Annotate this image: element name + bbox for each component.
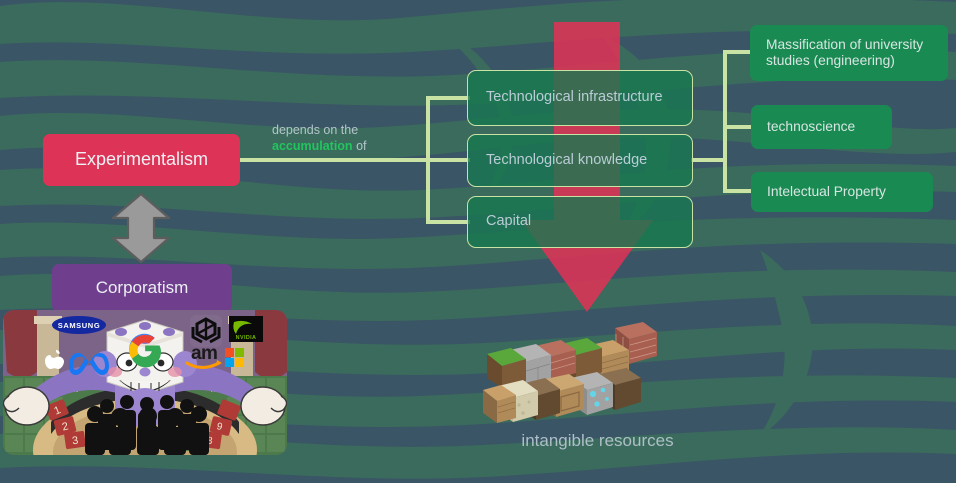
nvidia-logo-icon: NVIDIA: [229, 316, 263, 342]
node-experimentalism[interactable]: Experimentalism: [43, 134, 240, 186]
minecraft-blocks-illustration: [483, 322, 659, 426]
node-label: Capital: [486, 213, 531, 230]
connector-right-bracket-bottom: [723, 189, 753, 193]
node-massification-university-studies[interactable]: Massification of university studies (eng…: [750, 25, 948, 81]
label-intangible-resources: intangible resources: [455, 431, 740, 451]
node-label: Massification of university studies (eng…: [766, 37, 948, 70]
samsung-logo-icon: SAMSUNG: [52, 316, 106, 334]
node-label: Corporatism: [96, 278, 189, 298]
caption-depends-on-accumulation: depends on the accumulation of: [272, 123, 432, 154]
connector-knowledge-to-right-bracket: [691, 158, 727, 162]
connector-left-bracket-mid: [426, 158, 470, 162]
node-corporatism[interactable]: Corporatism: [52, 264, 232, 312]
svg-text:SAMSUNG: SAMSUNG: [58, 321, 101, 330]
bidirectional-arrow-icon: [110, 192, 172, 264]
node-label: Technological infrastructure: [486, 89, 663, 106]
node-technoscience[interactable]: technoscience: [751, 105, 892, 149]
node-label: Intelectual Property: [767, 184, 886, 200]
connector-right-bracket-top: [723, 50, 753, 54]
svg-text:m: m: [201, 343, 218, 364]
connector-right-bracket-mid: [723, 125, 753, 129]
node-technological-knowledge[interactable]: Technological knowledge: [467, 134, 693, 187]
connector-right-bracket-vertical: [723, 50, 727, 192]
node-capital[interactable]: Capital: [467, 196, 693, 248]
diagram-canvas: Technological infrastructure Technologic…: [0, 0, 956, 483]
connector-exp-to-bracket: [240, 158, 430, 162]
caption-highlight-accumulation: accumulation: [272, 139, 353, 153]
svg-text:NVIDIA: NVIDIA: [236, 335, 257, 341]
node-label: technoscience: [767, 119, 855, 135]
king-dice-tech-logos-image: LOW HIGH 1 2 3 9 8: [3, 310, 287, 455]
caption-tail: of: [356, 139, 366, 153]
amazon-logo-icon: a m: [187, 343, 222, 368]
node-label: Experimentalism: [75, 149, 208, 170]
node-technological-infrastructure[interactable]: Technological infrastructure: [467, 70, 693, 126]
caption-line-1: depends on the: [272, 123, 358, 137]
node-intelectual-property[interactable]: Intelectual Property: [751, 172, 933, 212]
node-label: Technological knowledge: [486, 152, 647, 169]
connector-left-bracket-top: [426, 96, 470, 100]
connector-left-bracket-bottom: [426, 220, 470, 224]
